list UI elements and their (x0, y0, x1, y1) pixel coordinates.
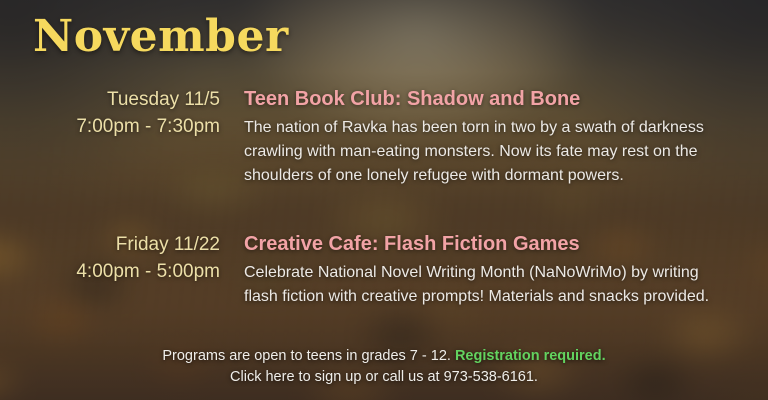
event-time: 7:00pm - 7:30pm (0, 113, 220, 140)
event-flyer: November Tuesday 11/5 7:00pm - 7:30pm Te… (0, 0, 768, 400)
event-description: The nation of Ravka has been torn in two… (244, 116, 712, 188)
event-details: Teen Book Club: Shadow and Bone The nati… (220, 86, 768, 188)
event-title: Creative Cafe: Flash Fiction Games (244, 231, 712, 257)
flyer-content: November Tuesday 11/5 7:00pm - 7:30pm Te… (0, 0, 768, 400)
footer-signup-contact[interactable]: Click here to sign up or call us at 973-… (0, 367, 768, 388)
event-title: Teen Book Club: Shadow and Bone (244, 86, 712, 112)
month-heading: November (33, 14, 289, 60)
event-datetime: Friday 11/22 4:00pm - 5:00pm (0, 231, 220, 285)
footer-note: Programs are open to teens in grades 7 -… (0, 346, 768, 388)
footer-line-registration: Programs are open to teens in grades 7 -… (0, 346, 768, 367)
registration-required-text: Registration required. (455, 348, 606, 364)
event-row: Tuesday 11/5 7:00pm - 7:30pm Teen Book C… (0, 86, 768, 188)
event-datetime: Tuesday 11/5 7:00pm - 7:30pm (0, 86, 220, 140)
event-details: Creative Cafe: Flash Fiction Games Celeb… (220, 231, 768, 309)
event-day: Friday 11/22 (0, 231, 220, 258)
event-description: Celebrate National Novel Writing Month (… (244, 261, 712, 309)
event-time: 4:00pm - 5:00pm (0, 258, 220, 285)
footer-eligibility-text: Programs are open to teens in grades 7 -… (162, 348, 455, 364)
event-row: Friday 11/22 4:00pm - 5:00pm Creative Ca… (0, 231, 768, 309)
event-day: Tuesday 11/5 (0, 86, 220, 113)
